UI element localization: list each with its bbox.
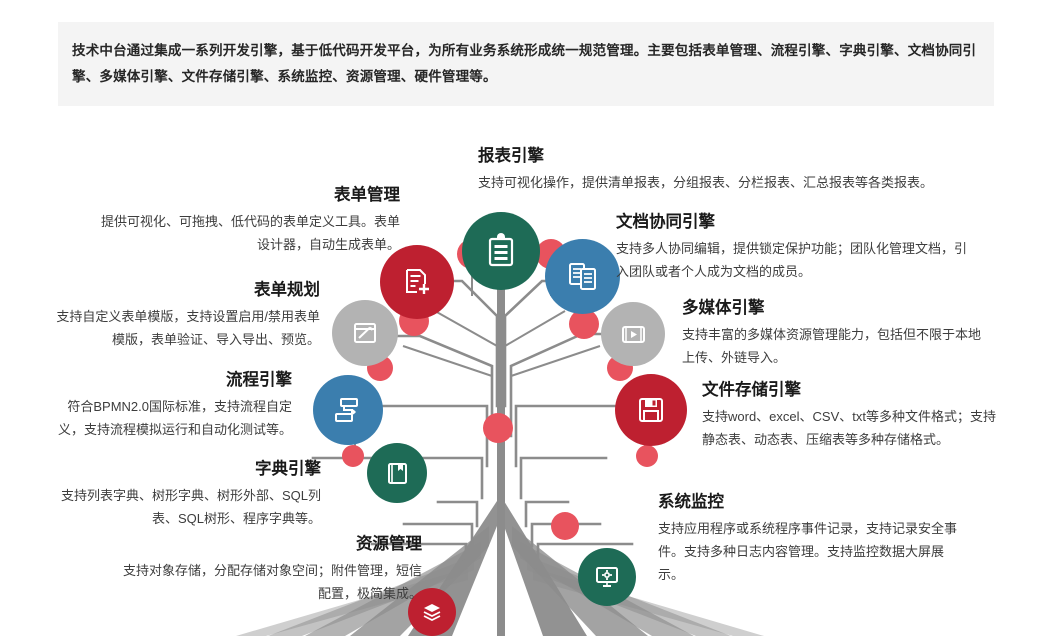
info-title-form-planning: 表单规划: [55, 278, 320, 302]
node-form-management[interactable]: [380, 245, 454, 319]
info-title-form-management: 表单管理: [100, 183, 400, 207]
node-dictionary-engine[interactable]: [367, 443, 427, 503]
info-desc-file-storage-engine: 支持word、excel、CSV、txt等多种文件格式；支持静态表、动态表、压缩…: [702, 405, 1002, 451]
info-desc-multimedia-engine: 支持丰富的多媒体资源管理能力，包括但不限于本地上传、外链导入。: [682, 323, 992, 369]
flowchart-icon: [331, 393, 365, 427]
info-title-system-monitoring: 系统监控: [658, 490, 958, 514]
video-play-icon: [618, 319, 649, 350]
info-title-multimedia-engine: 多媒体引擎: [682, 296, 992, 320]
info-form-planning: 表单规划 支持自定义表单模版，支持设置启用/禁用表单模版，表单验证、导入导出、预…: [55, 278, 320, 351]
info-title-file-storage-engine: 文件存储引擎: [702, 378, 1002, 402]
info-desc-process-engine: 符合BPMN2.0国际标准，支持流程自定义，支持流程模拟运行和自动化测试等。: [55, 395, 292, 441]
info-file-storage-engine: 文件存储引擎 支持word、excel、CSV、txt等多种文件格式；支持静态表…: [702, 378, 1002, 451]
info-title-process-engine: 流程引擎: [55, 368, 292, 392]
book-icon: [383, 459, 412, 488]
info-desc-document-collaboration-engine: 支持多人协同编辑，提供锁定保护功能；团队化管理文档，引入团队或者个人成为文档的成…: [616, 237, 976, 283]
info-system-monitoring: 系统监控 支持应用程序或系统程序事件记录，支持记录安全事件。支持多种日志内容管理…: [658, 490, 958, 586]
form-edit-icon: [349, 317, 381, 349]
node-system-monitoring[interactable]: [578, 548, 636, 606]
documents-copy-icon: [564, 258, 601, 295]
floppy-disk-icon: [634, 393, 668, 427]
info-desc-form-management: 提供可视化、可拖拽、低代码的表单定义工具。表单设计器，自动生成表单。: [100, 210, 400, 256]
info-dictionary-engine: 字典引擎 支持列表字典、树形字典、树形外部、SQL列表、SQL树形、程序字典等。: [55, 457, 321, 530]
node-process-engine[interactable]: [313, 375, 383, 445]
node-multimedia-engine[interactable]: [601, 302, 665, 366]
info-desc-resource-management: 支持对象存储，分配存储对象空间；附件管理，短信配置，极简集成。: [120, 559, 422, 605]
info-form-management: 表单管理 提供可视化、可拖拽、低代码的表单定义工具。表单设计器，自动生成表单。: [100, 183, 400, 256]
intro-description: 技术中台通过集成一系列开发引擎，基于低代码开发平台，为所有业务系统形成统一规范管…: [58, 38, 994, 90]
info-document-collaboration-engine: 文档协同引擎 支持多人协同编辑，提供锁定保护功能；团队化管理文档，引入团队或者个…: [616, 210, 976, 283]
node-form-planning[interactable]: [332, 300, 398, 366]
node-file-storage-engine[interactable]: [615, 374, 687, 446]
info-title-document-collaboration-engine: 文档协同引擎: [616, 210, 976, 234]
monitor-gear-icon: [593, 563, 621, 591]
info-desc-report-engine: 支持可视化操作，提供清单报表，分组报表、分栏报表、汇总报表等各类报表。: [478, 171, 990, 194]
document-add-icon: [399, 264, 435, 300]
info-desc-system-monitoring: 支持应用程序或系统程序事件记录，支持记录安全事件。支持多种日志内容管理。支持监控…: [658, 517, 958, 586]
tree-trunk: [499, 286, 503, 636]
node-document-collaboration-engine[interactable]: [545, 239, 620, 314]
info-multimedia-engine: 多媒体引擎 支持丰富的多媒体资源管理能力，包括但不限于本地上传、外链导入。: [682, 296, 992, 369]
info-title-resource-management: 资源管理: [120, 532, 422, 556]
info-desc-dictionary-engine: 支持列表字典、树形字典、树形外部、SQL列表、SQL树形、程序字典等。: [55, 484, 321, 530]
info-process-engine: 流程引擎 符合BPMN2.0国际标准，支持流程自定义，支持流程模拟运行和自动化测…: [55, 368, 292, 441]
info-title-report-engine: 报表引擎: [478, 144, 990, 168]
clipboard-list-icon: [482, 232, 520, 270]
layers-stack-icon: [420, 600, 444, 624]
info-desc-form-planning: 支持自定义表单模版，支持设置启用/禁用表单模版，表单验证、导入导出、预览。: [55, 305, 320, 351]
info-title-dictionary-engine: 字典引擎: [55, 457, 321, 481]
info-report-engine: 报表引擎 支持可视化操作，提供清单报表，分组报表、分栏报表、汇总报表等各类报表。: [478, 144, 990, 194]
node-report-engine[interactable]: [462, 212, 540, 290]
info-resource-management: 资源管理 支持对象存储，分配存储对象空间；附件管理，短信配置，极简集成。: [120, 532, 422, 605]
intro-banner: 技术中台通过集成一系列开发引擎，基于低代码开发平台，为所有业务系统形成统一规范管…: [58, 22, 994, 106]
